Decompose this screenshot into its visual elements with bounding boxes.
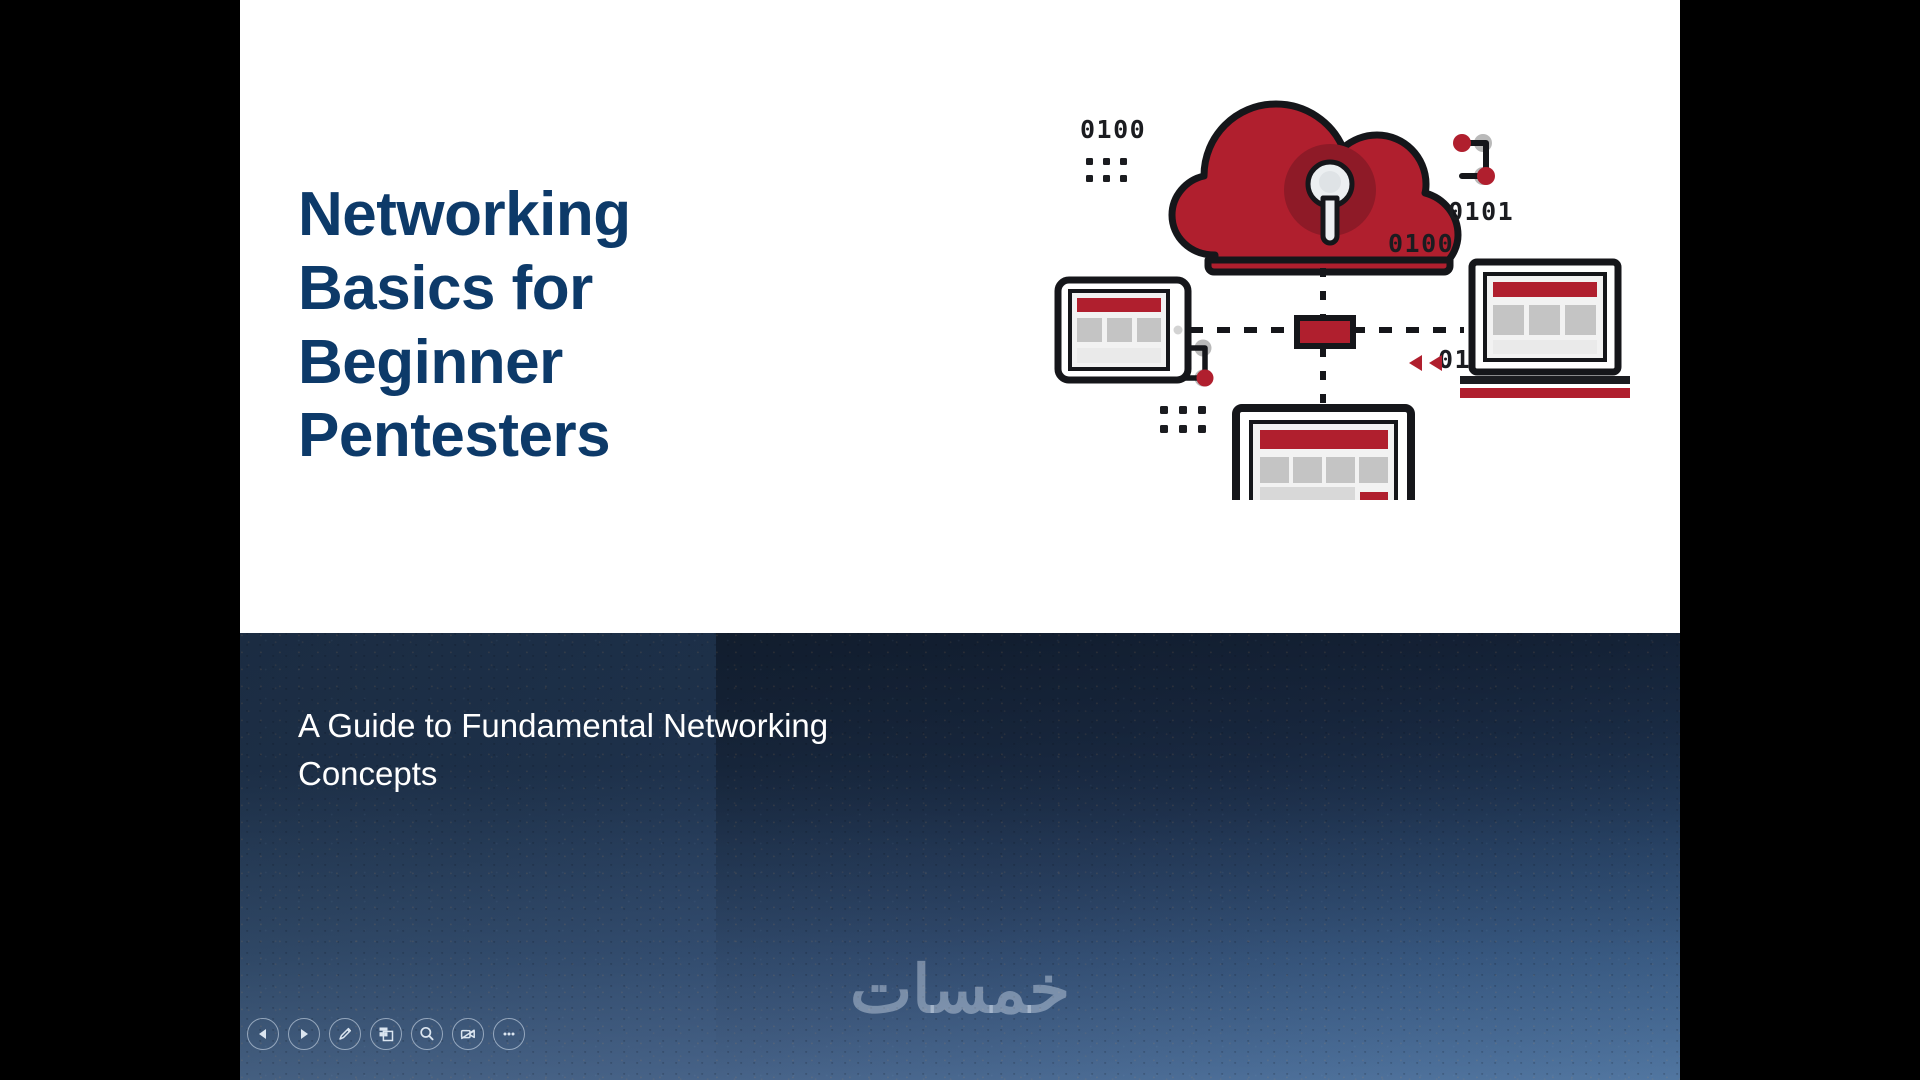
binary-label-top-left: 0100 xyxy=(1080,115,1146,144)
watermark-text: خمسات xyxy=(240,951,1680,1028)
magnifier-icon xyxy=(418,1025,436,1043)
presentation-screen: Networking Basics for Beginner Pentester… xyxy=(0,0,1920,1080)
pen-icon xyxy=(336,1025,354,1043)
next-slide-button[interactable] xyxy=(288,1018,320,1050)
previous-slide-button[interactable] xyxy=(247,1018,279,1050)
slide-canvas[interactable]: Networking Basics for Beginner Pentester… xyxy=(240,0,1680,1080)
dot-grid-top-left xyxy=(1086,158,1127,182)
slide-title: Networking Basics for Beginner Pentester… xyxy=(298,178,738,473)
toggle-camera-button[interactable] xyxy=(452,1018,484,1050)
camera-off-icon xyxy=(459,1025,477,1043)
pen-tool-button[interactable] xyxy=(329,1018,361,1050)
binary-label-center: 0100 xyxy=(1388,229,1454,258)
laptop-device xyxy=(1460,262,1630,398)
tablet-device xyxy=(1058,280,1188,380)
slide-subtitle: A Guide to Fundamental Networking Concep… xyxy=(298,702,898,797)
triangle-left-icon xyxy=(255,1026,271,1042)
desktop-monitor xyxy=(1236,408,1411,500)
letterbox-right xyxy=(1680,0,1920,1080)
all-slides-button[interactable] xyxy=(370,1018,402,1050)
grid-slides-icon xyxy=(377,1025,395,1043)
slide-lower-panel: A Guide to Fundamental Networking Concep… xyxy=(240,633,1680,1080)
router-node xyxy=(1297,318,1353,346)
more-options-button[interactable] xyxy=(493,1018,525,1050)
dot-grid-bottom xyxy=(1160,406,1206,433)
letterbox-left xyxy=(0,0,240,1080)
ellipsis-icon xyxy=(500,1025,518,1043)
cloud-network-illustration: 0100 xyxy=(1040,30,1640,500)
binary-label-right: 0101 xyxy=(1448,197,1514,226)
presenter-toolbar[interactable] xyxy=(247,1018,525,1050)
slide-upper-panel: Networking Basics for Beginner Pentester… xyxy=(240,0,1680,633)
triangle-right-icon xyxy=(296,1026,312,1042)
network-node-icon-right xyxy=(1453,134,1495,185)
zoom-slide-button[interactable] xyxy=(411,1018,443,1050)
